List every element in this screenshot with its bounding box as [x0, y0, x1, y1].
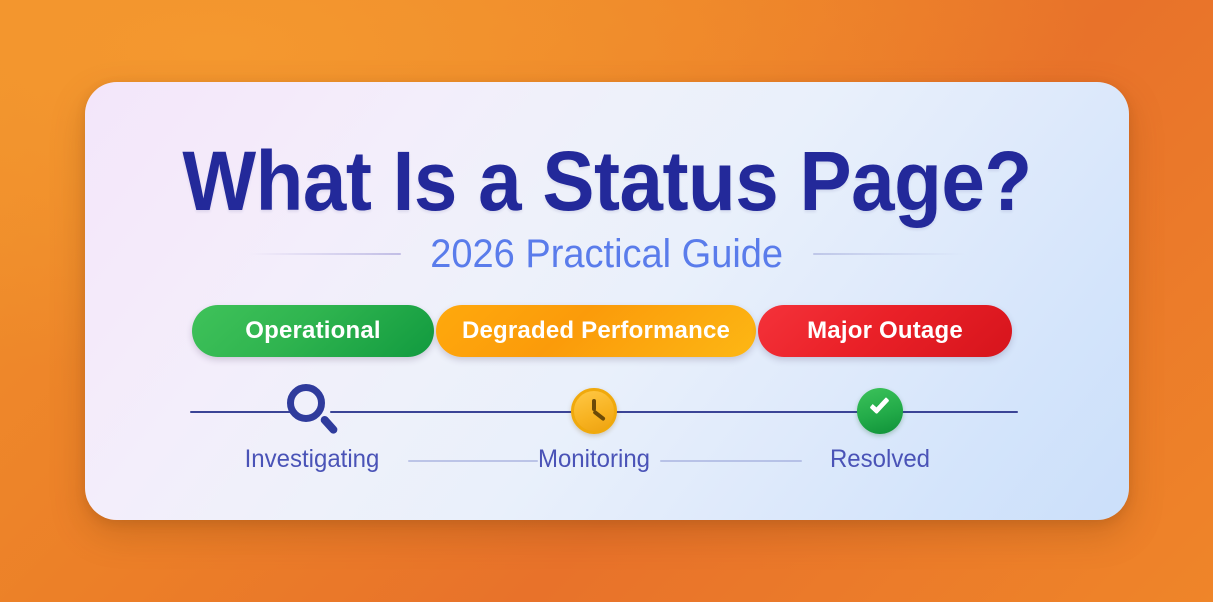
- timeline-label-monitoring: Monitoring: [538, 445, 650, 474]
- timeline-label-rule: [660, 460, 802, 462]
- subtitle-rule-right: [813, 253, 965, 255]
- timeline-line-segment: [330, 411, 576, 413]
- status-badge-degraded[interactable]: Degraded Performance: [436, 305, 756, 357]
- timeline-node-resolved[interactable]: [857, 388, 903, 434]
- status-badge-outage[interactable]: Major Outage: [758, 305, 1012, 357]
- status-badge-group: Operational Degraded Performance Major O…: [192, 305, 1012, 357]
- timeline-node-investigating[interactable]: [285, 384, 339, 438]
- timeline-line-segment: [612, 411, 862, 413]
- timeline-label-rule: [408, 460, 538, 462]
- checkmark-glyph: [869, 394, 889, 415]
- clock-hand-minute: [593, 410, 606, 421]
- hero-card: What Is a Status Page? 2026 Practical Gu…: [85, 82, 1129, 520]
- page-title: What Is a Status Page?: [122, 139, 1093, 223]
- timeline-label-investigating: Investigating: [245, 445, 380, 474]
- magnifier-ring: [287, 384, 325, 422]
- timeline-line-segment: [900, 411, 1018, 413]
- clock-icon: [571, 388, 617, 434]
- status-badge-operational[interactable]: Operational: [192, 305, 434, 357]
- timeline-node-monitoring[interactable]: [571, 388, 617, 434]
- magnifier-handle: [319, 414, 339, 435]
- timeline-label-group: Investigating Monitoring Resolved: [190, 445, 1018, 475]
- timeline-line-segment: [190, 411, 294, 413]
- check-circle-icon: [857, 388, 903, 434]
- timeline-label-resolved: Resolved: [830, 445, 930, 474]
- page-subtitle: 2026 Practical Guide: [431, 232, 784, 277]
- subtitle-row: 2026 Practical Guide: [85, 230, 1129, 278]
- subtitle-rule-left: [249, 253, 401, 255]
- magnifier-icon: [285, 384, 339, 438]
